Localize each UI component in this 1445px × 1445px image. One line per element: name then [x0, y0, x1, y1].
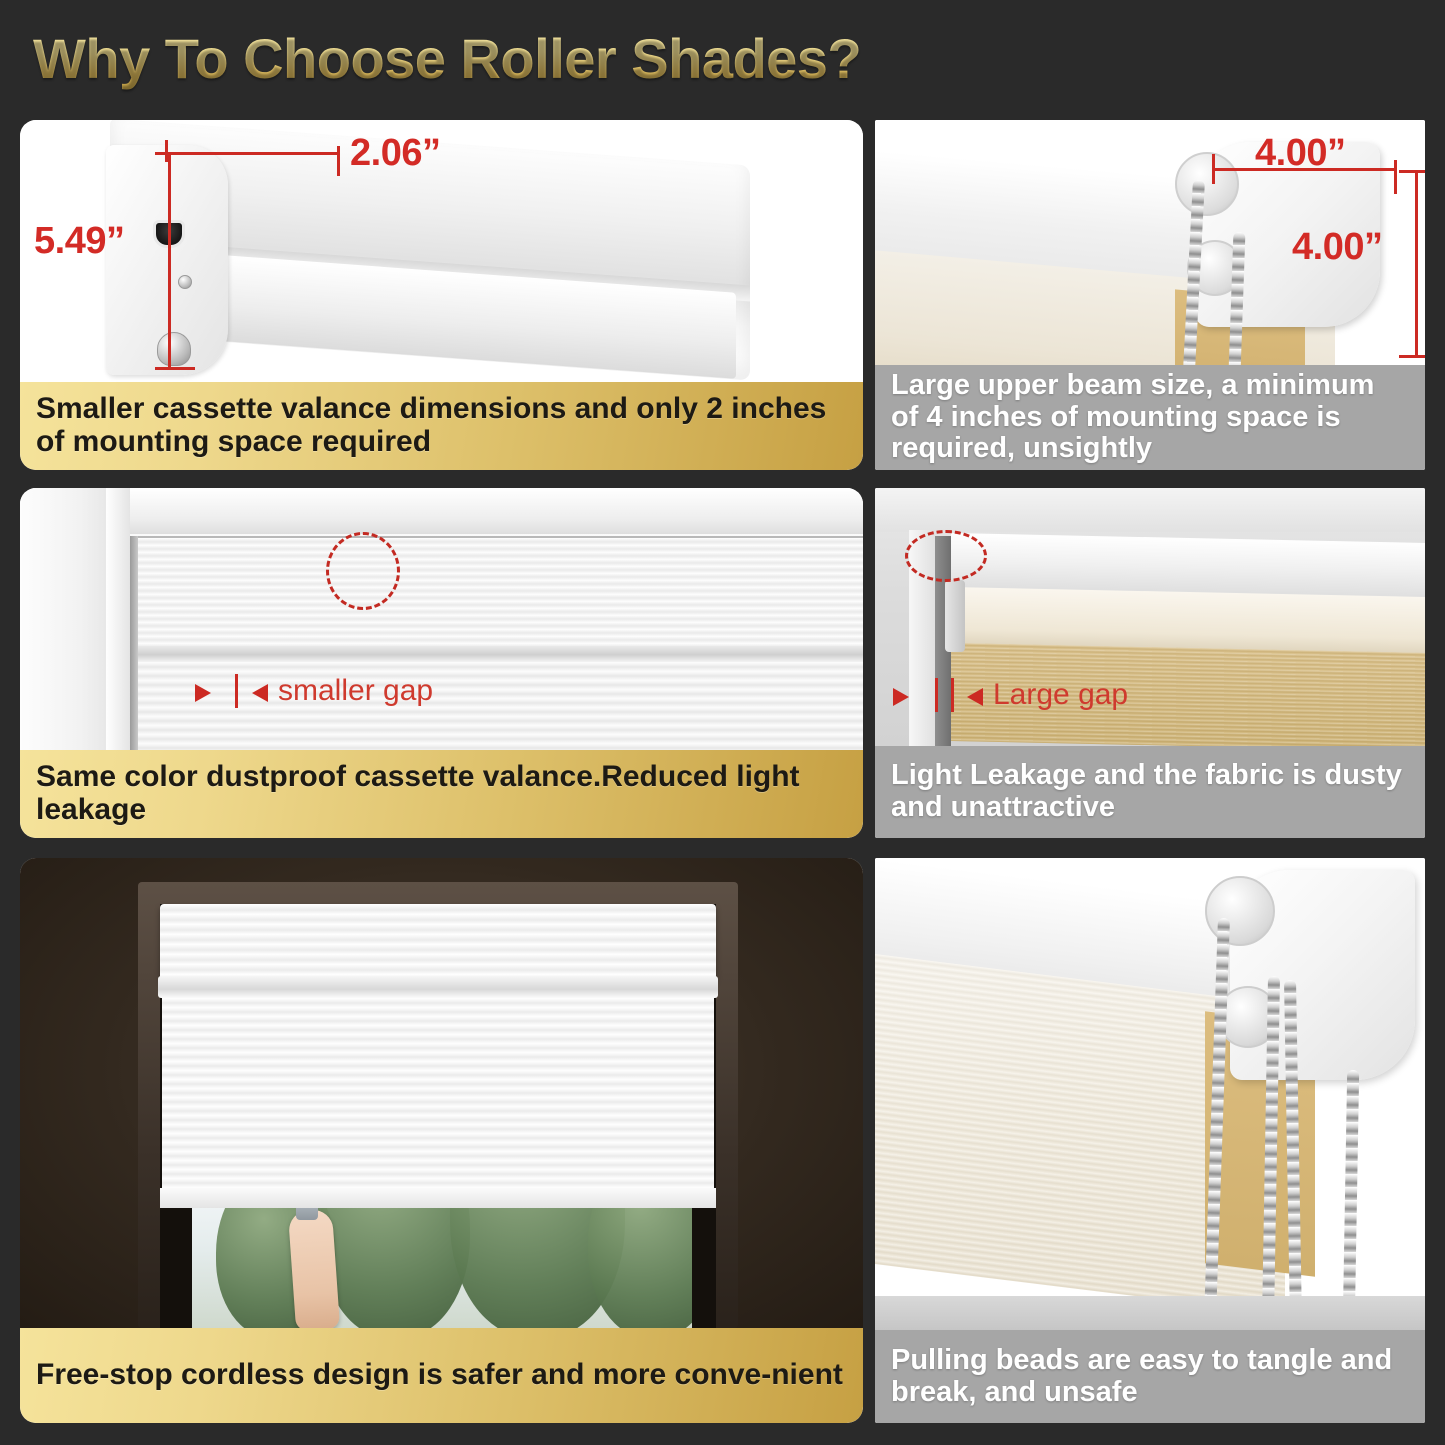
bracket-screw-upper	[178, 275, 192, 289]
height-dimension-line	[168, 152, 171, 370]
panel-1-photo: 2.06” 5.49”	[20, 120, 863, 382]
ceiling-surface	[875, 488, 1425, 532]
panel-cordless-design: Free-stop cordless design is safer and m…	[20, 858, 863, 1423]
gap-arrow-left	[195, 684, 211, 702]
shade-middle-rail	[136, 646, 863, 662]
window-casing	[106, 488, 130, 750]
panel-4-caption: Light Leakage and the fabric is dusty an…	[875, 746, 1425, 838]
floor-surface	[875, 1296, 1425, 1330]
shade-lower-panel	[138, 662, 863, 750]
beam-height-tick-top	[1399, 170, 1425, 173]
panel-1-caption: Smaller cassette valance dimensions and …	[20, 382, 863, 470]
height-dimension-tick-bottom	[155, 367, 195, 370]
panel-6-caption: Pulling beads are easy to tangle and bre…	[875, 1330, 1425, 1423]
panel-6-caption-text: Pulling beads are easy to tangle and bre…	[891, 1345, 1409, 1408]
shade-upper-panel	[138, 536, 863, 648]
shade-bottom-bar	[160, 1188, 716, 1208]
roller-end-cap-upper	[1205, 876, 1275, 946]
beam-width-tick-right	[1394, 160, 1397, 194]
width-dimension-line	[165, 152, 340, 155]
panel-2-caption-text: Large upper beam size, a minimum of 4 in…	[891, 370, 1409, 465]
window-head-trim	[130, 488, 863, 534]
beam-height-tick-bottom	[1399, 355, 1425, 358]
beam-width-label: 4.00”	[1255, 132, 1345, 175]
gap-arrow-left	[893, 688, 909, 706]
width-dimension-label: 2.06”	[350, 132, 440, 175]
gap-marker-line-2	[951, 678, 954, 712]
panel-large-gap: Large gap Light Leakage and the fabric i…	[875, 488, 1425, 838]
panel-2-photo: 4.00” 4.00”	[875, 120, 1425, 365]
panel-3-caption: Same color dustproof cassette valance.Re…	[20, 750, 863, 838]
gap-arrow-right	[252, 684, 268, 702]
beam-height-label: 4.00”	[1292, 226, 1382, 269]
panel-6-photo	[875, 858, 1425, 1330]
panel-5-photo	[20, 858, 863, 1328]
panel-pulling-beads: Pulling beads are easy to tangle and bre…	[875, 858, 1425, 1423]
large-gap-label: Large gap	[993, 678, 1128, 712]
panel-4-caption-text: Light Leakage and the fabric is dusty an…	[891, 760, 1409, 823]
height-dimension-tick-top	[155, 152, 181, 155]
mounting-clip	[945, 580, 965, 652]
roller-end-cap-upper	[1175, 152, 1239, 216]
gap-arrow-right	[967, 688, 983, 706]
bracket-screw-lower	[157, 332, 191, 366]
window-jamb-left	[20, 488, 106, 750]
panel-small-cassette: 2.06” 5.49” Smaller cassette valance dim…	[20, 120, 863, 470]
panel-large-beam: 4.00” 4.00” Large upper beam size, a min…	[875, 120, 1425, 470]
gap-marker-line-1	[935, 678, 938, 712]
beam-height-line	[1415, 170, 1418, 358]
hand-pulling-shade	[288, 1209, 340, 1328]
width-dimension-tick-right	[337, 146, 340, 176]
panel-smaller-gap: smaller gap Same color dustproof cassett…	[20, 488, 863, 838]
gap-marker-line	[235, 674, 238, 708]
panel-5-caption: Free-stop cordless design is safer and m…	[20, 1328, 863, 1423]
panel-3-caption-text: Same color dustproof cassette valance.Re…	[36, 761, 847, 826]
cassette-front-rail	[158, 976, 718, 998]
smaller-gap-label: smaller gap	[278, 674, 433, 708]
tree-far-right	[588, 1208, 692, 1328]
cassette-valance	[160, 904, 716, 980]
shade-fabric	[162, 998, 714, 1194]
beam-width-tick-left	[1212, 154, 1215, 184]
panel-5-caption-text: Free-stop cordless design is safer and m…	[36, 1359, 843, 1392]
outdoor-view	[192, 1208, 692, 1328]
gap-highlight-ellipse	[905, 530, 987, 582]
gap-highlight-ellipse	[326, 532, 400, 610]
panel-4-photo: Large gap	[875, 488, 1425, 746]
panel-1-caption-text: Smaller cassette valance dimensions and …	[36, 393, 847, 458]
panel-2-caption: Large upper beam size, a minimum of 4 in…	[875, 365, 1425, 470]
panel-3-photo: smaller gap	[20, 488, 863, 750]
shade-side-gap	[130, 536, 138, 750]
height-dimension-label: 5.49”	[34, 220, 124, 263]
tree-center	[320, 1208, 470, 1328]
page-title: Why To Choose Roller Shades?	[33, 26, 861, 91]
infographic-root: Why To Choose Roller Shades? 2.06” 5.49”…	[0, 0, 1445, 1445]
